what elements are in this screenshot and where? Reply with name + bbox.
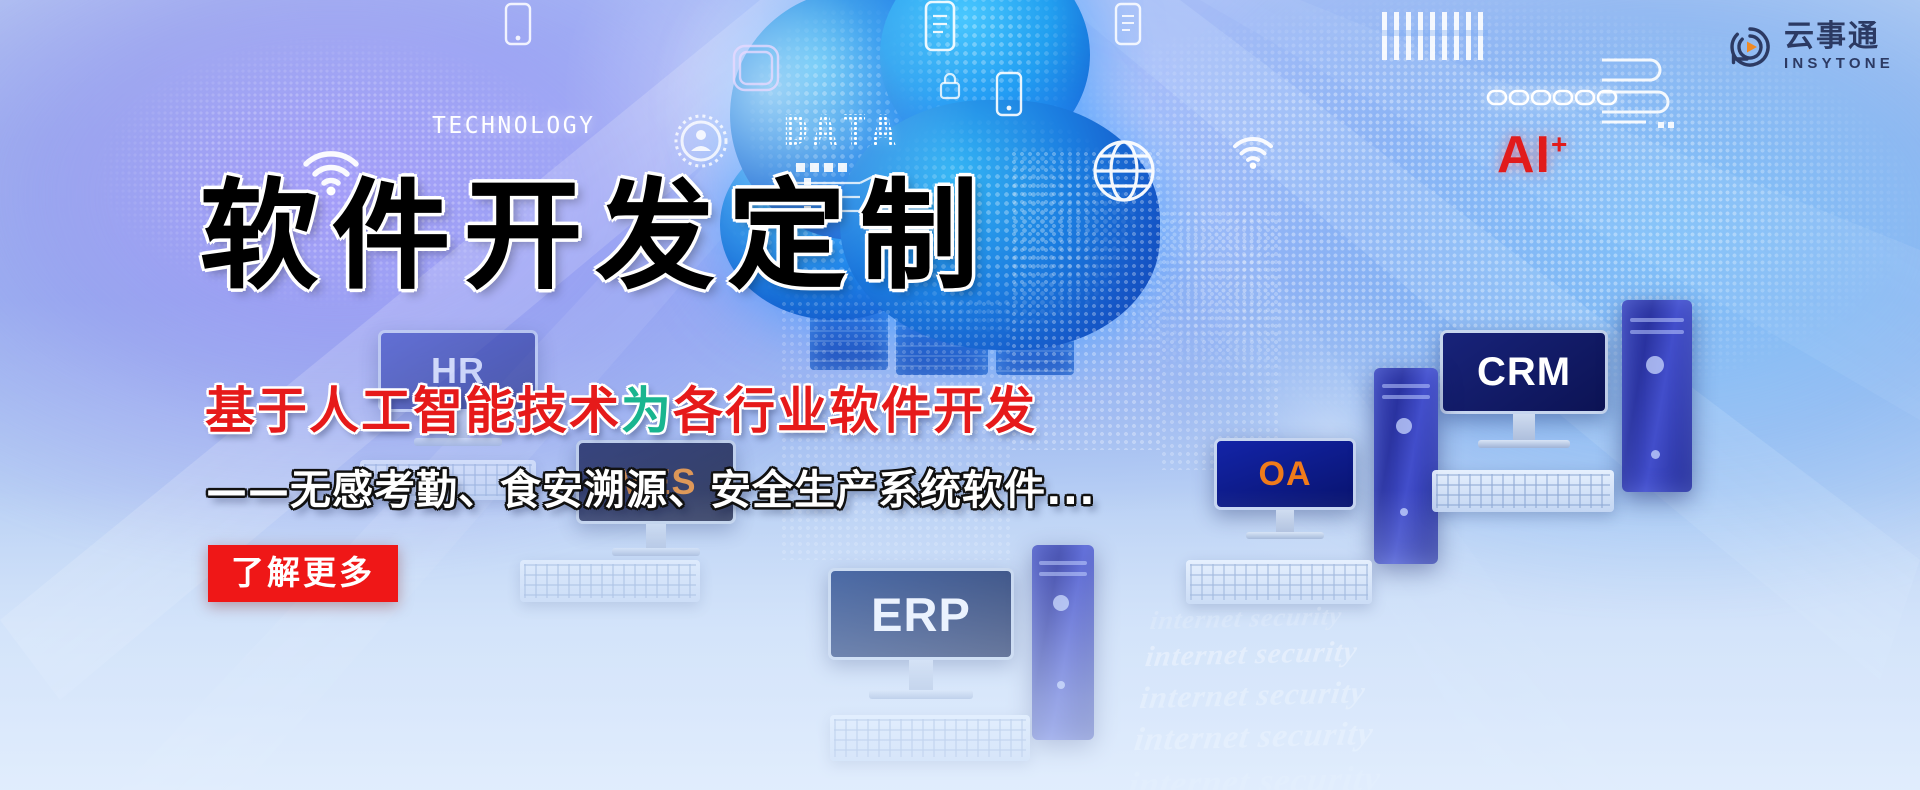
subtitle: 基于人工智能技术为各行业软件开发 <box>205 386 1037 436</box>
brand-logo-text: 云事通 INSYTONE <box>1784 22 1894 71</box>
subtitle-accent: 为 <box>621 382 673 440</box>
insytone-spiral-play-icon <box>1727 24 1773 70</box>
hero-content: TECHNOLOGY DATA AI+ 软件开发定制 基于人工智能技术为各行业软… <box>0 0 1920 790</box>
label-data: DATA <box>783 106 900 155</box>
label-ai-plus: AI+ <box>1497 125 1568 185</box>
brand-name-cn: 云事通 <box>1784 22 1894 52</box>
brand-name-en: INSYTONE <box>1784 56 1894 71</box>
page-title: 软件开发定制 <box>200 175 992 299</box>
label-ai-text: AI <box>1497 126 1551 184</box>
label-technology: TECHNOLOGY <box>432 113 595 139</box>
tagline: ——无感考勤、食安溯源、安全生产系统软件... <box>206 470 1096 511</box>
label-ai-superscript: + <box>1551 129 1568 160</box>
learn-more-button[interactable]: 了解更多 <box>208 545 398 602</box>
brand-logo[interactable]: 云事通 INSYTONE <box>1727 22 1894 71</box>
subtitle-part-1: 基于人工智能技术 <box>205 382 621 440</box>
subtitle-part-2: 各行业软件开发 <box>673 382 1037 440</box>
hero-banner: CRM OA ERP HR <box>0 0 1920 790</box>
